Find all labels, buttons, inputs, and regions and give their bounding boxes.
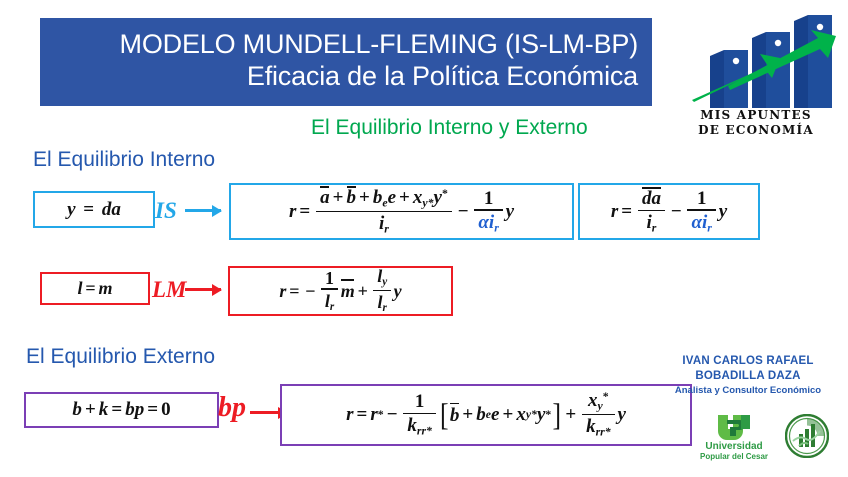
slide-root: MODELO MUNDELL-FLEMING (IS-LM-BP) Eficac…	[0, 0, 848, 477]
upc-line-1: Universidad	[694, 442, 774, 453]
heading-equilibrio-interno: El Equilibrio Interno	[33, 148, 215, 172]
bp-condition-box: b+k=bp=0	[24, 392, 219, 428]
brand-logo: MIS APUNTES DE ECONOMÍA	[668, 8, 844, 148]
universidad-popular-del-cesar-logo: Universidad Popular del Cesar	[694, 412, 774, 470]
lm-condition-box: l=m	[40, 272, 150, 305]
title-line-1: MODELO MUNDELL-FLEMING (IS-LM-BP)	[120, 29, 638, 61]
is-condition-box: y = da	[33, 191, 155, 228]
title-line-2: Eficacia de la Política Económica	[247, 61, 638, 93]
is-main-equation-box: r= a+b+bee+xy*y* ir − 1 αir y	[229, 183, 574, 240]
upc-mark-icon	[694, 412, 774, 444]
bp-main-formula: r=r*− 1 krr* [ b+bee+xy*y* ] + xy* krr* …	[346, 391, 626, 438]
bar-chart-arrow-icon	[668, 8, 844, 112]
is-alt-formula: r= da ir − 1 αir y	[611, 188, 727, 234]
is-arrow-icon	[185, 209, 221, 212]
is-condition-formula: y = da	[67, 199, 121, 221]
brand-logo-line-2: DE ECONOMÍA	[668, 123, 844, 138]
bp-condition-formula: b+k=bp=0	[72, 399, 170, 421]
brand-logo-text: MIS APUNTES DE ECONOMÍA	[668, 108, 844, 138]
subtitle-equilibrio: El Equilibrio Interno y Externo	[311, 116, 588, 140]
lm-arrow-icon	[185, 288, 221, 291]
lm-main-formula: r=− 1 lr m + ly lr y	[279, 267, 401, 315]
author-credits: IVAN CARLOS RAFAEL BOBADILLA DAZA Analis…	[648, 354, 848, 396]
upc-logo-text: Universidad Popular del Cesar	[694, 442, 774, 461]
author-name-line-1: IVAN CARLOS RAFAEL	[648, 354, 848, 369]
heading-equilibrio-externo: El Equilibrio Externo	[26, 345, 215, 369]
upc-line-2: Popular del Cesar	[694, 453, 774, 461]
brand-logo-line-1: MIS APUNTES	[668, 108, 844, 123]
author-name-line-2: BOBADILLA DAZA	[648, 369, 848, 384]
title-banner: MODELO MUNDELL-FLEMING (IS-LM-BP) Eficac…	[40, 18, 652, 106]
author-role: Analista y Consultor Económico	[648, 385, 848, 396]
lm-tag-label: LM	[152, 277, 187, 303]
is-alt-equation-box: r= da ir − 1 αir y	[578, 183, 760, 240]
lm-main-equation-box: r=− 1 lr m + ly lr y	[228, 266, 453, 316]
circular-green-emblem-icon	[785, 414, 829, 458]
is-main-formula: r= a+b+bee+xy*y* ir − 1 αir y	[289, 187, 514, 235]
is-tag-label: IS	[155, 198, 177, 224]
lm-condition-formula: l=m	[77, 278, 112, 299]
bp-tag-label: bp	[218, 392, 246, 424]
bp-main-equation-box: r=r*− 1 krr* [ b+bee+xy*y* ] + xy* krr* …	[280, 384, 692, 446]
